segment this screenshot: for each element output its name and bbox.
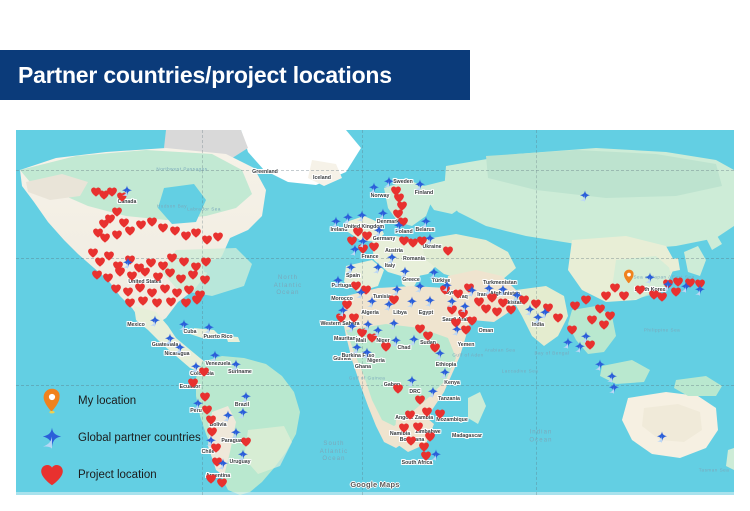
project-location-marker [406, 436, 417, 446]
project-location-marker [405, 410, 416, 420]
page-title-banner: Partner countries/project locations [0, 50, 470, 100]
partner-country-marker [240, 391, 253, 404]
partner-country-marker [178, 319, 191, 332]
partner-country-marker [386, 252, 399, 265]
partner-country-marker [205, 435, 218, 448]
partner-country-marker [345, 262, 358, 275]
partner-country-marker [608, 382, 621, 395]
project-location-marker [140, 267, 151, 277]
project-location-marker [104, 251, 115, 261]
partner-country-marker [434, 348, 447, 361]
partner-country-marker [393, 220, 406, 233]
partner-country-marker [662, 279, 675, 292]
partner-country-marker [383, 176, 396, 189]
project-location-marker [369, 242, 380, 252]
partner-country-marker [203, 322, 216, 335]
sea-label: Gulf of Guinea [349, 376, 386, 381]
project-location-marker [425, 432, 436, 442]
project-location-marker [570, 301, 581, 311]
partner-country-marker [406, 375, 419, 388]
project-location-marker [635, 285, 646, 295]
sea-label: Arabian Sea [485, 348, 516, 353]
project-location-marker [188, 270, 199, 280]
country-label: Egypt [419, 310, 433, 316]
ocean-label: North Atlantic Ocean [274, 275, 302, 298]
sea-label: Gulf of Aden [452, 353, 483, 358]
project-location-marker [112, 230, 123, 240]
country-label: Madagascar [452, 433, 482, 439]
partner-country-marker [430, 449, 443, 462]
map-attribution: Google Maps [350, 480, 399, 489]
partner-country-marker [414, 179, 427, 192]
partner-country-marker [580, 331, 593, 344]
country-label: Ghana [355, 364, 371, 370]
partner-country-marker [391, 284, 404, 297]
partner-country-marker [356, 210, 369, 223]
project-location-marker [201, 257, 212, 267]
legend-item-partner-countries: Global partner countries [34, 419, 201, 456]
project-location-marker [506, 305, 517, 315]
partner-country-marker [230, 427, 243, 440]
ocean-label: South Atlantic Ocean [320, 441, 348, 464]
partner-country-marker [122, 257, 135, 270]
project-location-marker [443, 246, 454, 256]
partner-country-marker [428, 267, 441, 280]
project-location-marker [160, 284, 171, 294]
partner-country-marker [420, 216, 433, 229]
partner-country-marker [237, 449, 250, 462]
project-location-marker [138, 296, 149, 306]
country-label: France [361, 254, 378, 260]
partner-country-marker [532, 312, 545, 325]
project-location-marker [581, 295, 592, 305]
project-location-marker [111, 284, 122, 294]
partner-country-marker [209, 350, 222, 363]
project-location-marker [136, 220, 147, 230]
project-location-marker [191, 228, 202, 238]
partner-country-marker [680, 281, 693, 294]
project-location-marker [92, 270, 103, 280]
partner-country-marker [388, 318, 401, 331]
country-label: Tanzania [438, 396, 460, 402]
partner-country-marker [222, 410, 235, 423]
project-location-marker [158, 223, 169, 233]
country-label: Yemen [458, 342, 475, 348]
project-location-marker [413, 422, 424, 432]
project-location-marker [103, 273, 114, 283]
partner-country-marker [424, 295, 437, 308]
page-title: Partner countries/project locations [0, 62, 392, 89]
partner-country-marker [644, 272, 657, 285]
map-pin-icon [34, 388, 70, 414]
project-location-marker [213, 232, 224, 242]
heart-icon [34, 464, 70, 486]
project-location-marker [553, 313, 564, 323]
map-legend: My location Global partner countries Pro… [34, 382, 201, 493]
country-label: Sweden [393, 179, 413, 185]
project-location-marker [422, 407, 433, 417]
partner-country-marker [406, 296, 419, 309]
project-location-marker [153, 272, 164, 282]
partner-country-marker [399, 266, 412, 279]
legend-label-partner-countries: Global partner countries [78, 432, 201, 444]
partner-country-marker [372, 325, 385, 338]
sea-label: Hudson Bay [157, 204, 187, 209]
project-location-marker [587, 315, 598, 325]
partner-country-marker [349, 244, 362, 257]
legend-label-my-location: My location [78, 395, 136, 407]
partner-country-marker [174, 342, 187, 355]
project-location-marker [170, 226, 181, 236]
country-label: Iceland [313, 175, 331, 181]
country-label: Mexico [127, 322, 145, 328]
partner-country-marker [446, 296, 459, 309]
project-location-marker [399, 423, 410, 433]
partner-country-marker [342, 212, 355, 225]
partner-country-marker [190, 361, 203, 374]
ocean-label: Indian Ocean [529, 430, 552, 445]
partner-country-marker [483, 283, 496, 296]
project-location-marker [435, 409, 446, 419]
project-location-marker [166, 297, 177, 307]
project-location-marker [123, 287, 134, 297]
project-location-marker [152, 298, 163, 308]
partner-country-marker [451, 324, 464, 337]
partner-country-marker [579, 190, 592, 203]
project-location-marker [165, 268, 176, 278]
project-location-marker [393, 384, 404, 394]
sea-label: Northwest Passages [156, 167, 207, 172]
partner-country-marker [368, 182, 381, 195]
project-location-marker [481, 304, 492, 314]
partner-country-marker [337, 305, 350, 318]
partner-country-marker [361, 347, 374, 360]
country-label: Greenland [252, 169, 278, 175]
partner-country-marker [366, 296, 379, 309]
my-location-marker [623, 269, 635, 285]
country-label: Guinea [333, 356, 351, 362]
project-location-marker [192, 295, 203, 305]
country-label: Oman [479, 328, 494, 334]
partner-country-marker [390, 335, 403, 348]
project-location-marker [492, 307, 503, 317]
partner-country-marker [656, 431, 669, 444]
partner-country-marker [332, 275, 345, 288]
sea-label: Tasman Sea [699, 468, 730, 473]
country-label: Romania [403, 256, 425, 262]
partner-country-marker [414, 281, 427, 294]
sea-label: Laccadive Sea [502, 369, 539, 374]
partner-country-marker [408, 334, 421, 347]
project-location-marker [176, 274, 187, 284]
star-icon [34, 426, 70, 450]
project-location-marker [206, 474, 217, 484]
partner-country-marker [149, 315, 162, 328]
partner-country-marker [373, 225, 386, 238]
legend-item-my-location: My location [34, 382, 201, 419]
partner-country-marker [237, 407, 250, 420]
partner-country-marker [377, 208, 390, 221]
partner-country-marker [372, 262, 385, 275]
partner-country-marker [427, 386, 440, 399]
country-label: Puerto Rico [203, 334, 232, 340]
partner-country-marker [459, 301, 472, 314]
partner-country-marker [217, 458, 230, 471]
country-label: Algeria [361, 310, 379, 316]
project-location-marker [217, 478, 228, 488]
project-location-marker [127, 271, 138, 281]
project-location-marker [567, 325, 578, 335]
project-location-marker [423, 331, 434, 341]
project-location-marker [415, 395, 426, 405]
country-label: Kenya [444, 380, 460, 386]
project-location-marker [147, 217, 158, 227]
partner-country-marker [230, 359, 243, 372]
partner-country-marker [121, 185, 134, 198]
project-location-marker [657, 292, 668, 302]
project-location-marker [184, 285, 195, 295]
project-location-marker [200, 275, 211, 285]
project-location-marker [100, 233, 111, 243]
legend-item-project-location: Project location [34, 456, 201, 493]
project-location-marker [167, 253, 178, 263]
project-location-marker [181, 298, 192, 308]
partner-country-marker [497, 284, 510, 297]
sea-label: Philippine Sea [644, 328, 680, 333]
project-location-marker [179, 257, 190, 267]
project-location-marker [125, 226, 136, 236]
project-location-marker [202, 235, 213, 245]
partner-country-marker [511, 290, 524, 303]
partner-country-marker [424, 233, 437, 246]
sea-label: Bay of Bengal [534, 351, 569, 356]
project-location-marker [619, 291, 630, 301]
partner-country-marker [694, 284, 707, 297]
legend-label-project-location: Project location [78, 469, 157, 481]
project-location-marker [135, 283, 146, 293]
project-location-marker [125, 298, 136, 308]
partner-country-marker [441, 280, 454, 293]
sea-label: Labrador Sea [187, 207, 221, 212]
partner-country-marker [466, 285, 479, 298]
partner-country-marker [346, 321, 359, 334]
partner-country-marker [439, 367, 452, 380]
partner-country-marker [383, 299, 396, 312]
project-location-marker [599, 320, 610, 330]
project-location-marker [206, 415, 217, 425]
